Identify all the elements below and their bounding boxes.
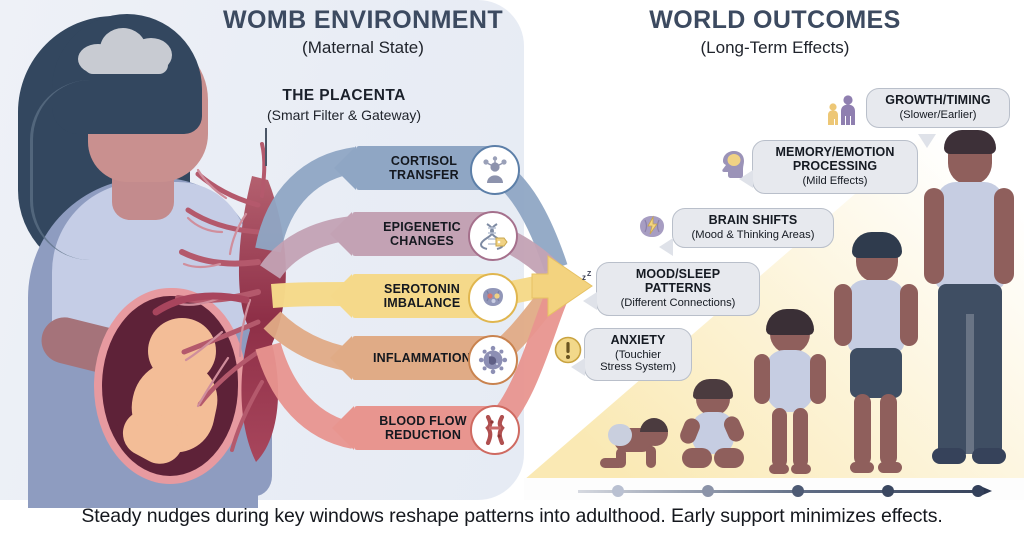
timeline-dot-crawling-infant xyxy=(612,485,624,497)
brain-bolt-icon xyxy=(636,212,668,247)
outcome-title: ANXIETY xyxy=(596,334,680,348)
pathway-band-chevron xyxy=(330,212,352,256)
figure-adult xyxy=(924,134,1012,480)
figure-child xyxy=(834,236,916,478)
timeline-dot-adult xyxy=(972,485,984,497)
pathway-band-chevron xyxy=(330,274,352,318)
moon-sleep-icon: zZ xyxy=(562,268,596,303)
outcome-title: MOOD/SLEEP PATTERNS xyxy=(608,268,748,296)
outcome-bubble-body: BRAIN SHIFTS(Mood & Thinking Areas) xyxy=(672,208,834,248)
svg-text:z: z xyxy=(582,273,586,282)
immune-cell-icon xyxy=(468,335,518,385)
blood-vessel-icon xyxy=(470,405,520,455)
infographic-root: WOMB ENVIRONMENT (Maternal State) THE PL… xyxy=(0,0,1024,559)
timeline-dot-toddler xyxy=(792,485,804,497)
outcome-title: BRAIN SHIFTS xyxy=(684,214,822,228)
outcome-title: MEMORY/EMOTION PROCESSING xyxy=(764,146,906,174)
outcome-bubble-body: MOOD/SLEEP PATTERNS(Different Connection… xyxy=(596,262,760,316)
outcome-subtitle: (Different Connections) xyxy=(608,297,748,310)
outcome-subtitle: (Mood & Thinking Areas) xyxy=(684,229,822,242)
stress-molecule-icon xyxy=(470,145,520,195)
timeline-dot-child xyxy=(882,485,894,497)
outcome-bubble-body: GROWTH/TIMING(Slower/Earlier) xyxy=(866,88,1010,128)
head-profile-icon xyxy=(716,148,748,185)
pathway-band-text: INFLAMMATION xyxy=(367,351,477,365)
outcome-bubble-body: ANXIETY(TouchierStress System) xyxy=(584,328,692,381)
figure-sitting-baby xyxy=(676,382,746,474)
brain-serotonin-icon xyxy=(468,273,518,323)
outcome-title: GROWTH/TIMING xyxy=(878,94,998,108)
figure-toddler xyxy=(752,314,826,476)
pathway-band-text: EPIGENETICCHANGES xyxy=(377,220,467,248)
outcome-subtitle: (TouchierStress System) xyxy=(596,349,680,374)
outcome-bubble-tail xyxy=(918,134,936,148)
timeline-dot-sitting-baby xyxy=(702,485,714,497)
pathway-band-text: CORTISOLTRANSFER xyxy=(383,154,465,182)
pathway-band-text: SEROTONINIMBALANCE xyxy=(378,282,467,310)
parent-child-icon xyxy=(824,94,862,131)
pathway-band-chevron xyxy=(334,146,356,190)
figure-crawling-infant xyxy=(596,418,672,472)
pathway-band-chevron xyxy=(332,406,354,450)
dna-tag-icon xyxy=(468,211,518,261)
outcome-bubble-body: MEMORY/EMOTION PROCESSING(Mild Effects) xyxy=(752,140,918,194)
summary-caption: Steady nudges during key windows reshape… xyxy=(0,505,1024,528)
growth-timeline xyxy=(578,484,1002,498)
svg-text:Z: Z xyxy=(587,271,592,278)
outcome-subtitle: (Slower/Earlier) xyxy=(878,109,998,122)
outcome-subtitle: (Mild Effects) xyxy=(764,175,906,188)
timeline-axis xyxy=(578,490,982,493)
pathway-band-text: BLOOD FLOWREDUCTION xyxy=(373,414,472,442)
alert-exclamation-icon xyxy=(554,336,582,369)
pathway-band-chevron xyxy=(330,336,352,380)
